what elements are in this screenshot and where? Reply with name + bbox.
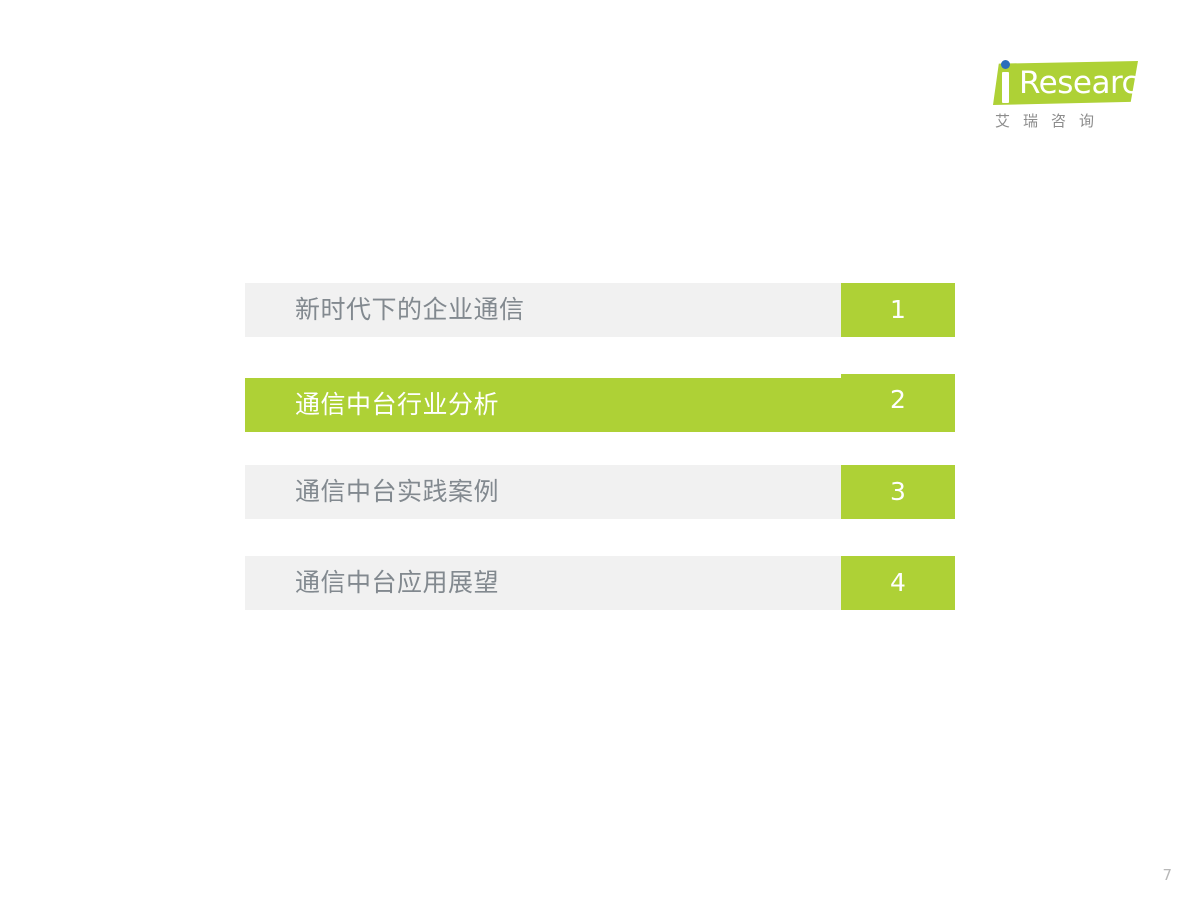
agenda-row-number: 3 [841, 465, 955, 519]
iresearch-logo: Research 艾瑞咨询 [985, 58, 1145, 140]
agenda-row-number-box: 3 [841, 465, 955, 519]
agenda-row[interactable]: 新时代下的企业通信 1 [245, 283, 955, 337]
agenda-row-label: 通信中台应用展望 [295, 556, 499, 610]
agenda-row-number: 1 [841, 283, 955, 337]
agenda-row-label: 通信中台实践案例 [295, 465, 499, 519]
agenda-row[interactable]: 通信中台行业分析 2 [245, 374, 955, 428]
logo-wordmark: Research [1019, 63, 1139, 103]
agenda-row-number-box: 1 [841, 283, 955, 337]
logo-i-dot-icon [1001, 60, 1010, 69]
agenda-row-label: 通信中台行业分析 [295, 378, 499, 432]
agenda-row[interactable]: 通信中台应用展望 4 [245, 556, 955, 610]
logo-subtitle: 艾瑞咨询 [995, 110, 1107, 131]
logo-mark: Research [985, 58, 1145, 108]
agenda-row[interactable]: 通信中台实践案例 3 [245, 465, 955, 519]
logo-i-stem-icon [1002, 72, 1009, 103]
agenda-row-number: 2 [841, 374, 955, 426]
agenda-row-number: 4 [841, 556, 955, 610]
agenda-row-label: 新时代下的企业通信 [295, 283, 525, 337]
page-number: 7 [1162, 866, 1172, 884]
agenda-row-number-box: 2 [841, 374, 955, 426]
slide-canvas: { "brand": { "logo_word": "Research", "l… [0, 0, 1200, 900]
agenda-list: 新时代下的企业通信 1 通信中台行业分析 2 通信中台实践案例 3 通信中台应用… [245, 283, 955, 610]
agenda-row-number-box: 4 [841, 556, 955, 610]
